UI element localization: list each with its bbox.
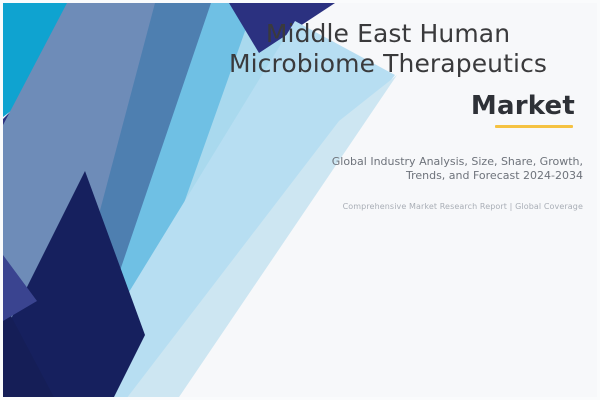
subtitle-line-2: Trends, and Forecast 2024-2034 [283,169,583,183]
market-accent-underline [495,125,573,128]
title-block: Middle East Human Microbiome Therapeutic… [193,19,583,128]
page-title: Middle East Human Microbiome Therapeutic… [193,19,583,79]
subtitle-block: Global Industry Analysis, Size, Share, G… [283,155,583,183]
report-cover: Middle East Human Microbiome Therapeutic… [0,0,600,400]
market-heading-row: Market [193,91,583,128]
cover-tagline: Comprehensive Market Research Report | G… [263,201,583,212]
subtitle-line-1: Global Industry Analysis, Size, Share, G… [283,155,583,169]
cover-text-layer: Middle East Human Microbiome Therapeutic… [3,3,600,400]
market-heading: Market [471,91,575,121]
